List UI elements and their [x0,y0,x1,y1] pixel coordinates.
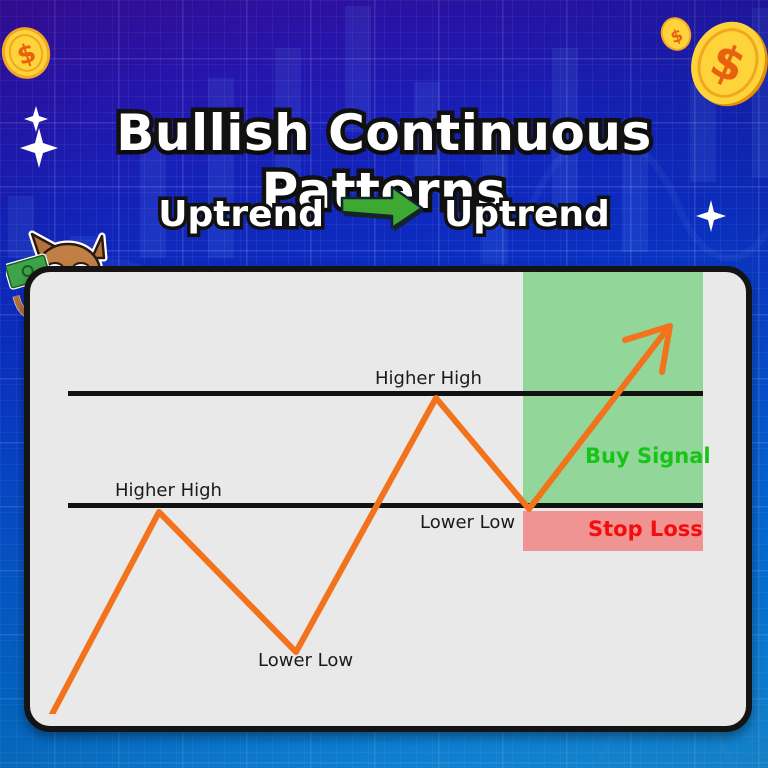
label-buy-signal: Buy Signal [585,444,711,468]
poster-canvas: $ $ $ Bullish Continuous Patterns Uptren… [0,0,768,768]
label-lower-low-right: Lower Low [420,512,515,533]
right-arrow-icon [340,186,428,242]
coin-top-left-icon: $ [0,25,52,81]
label-lower-low-bottom: Lower Low [258,650,353,671]
coin-top-right-large-icon: $ [688,20,768,110]
subtitle-uptrend-right: Uptrend [444,194,610,235]
label-higher-high-top: Higher High [375,368,482,389]
chart-area: Higher High Higher High Lower Low Lower … [30,272,746,726]
label-higher-high-mid: Higher High [115,480,222,501]
subtitle-uptrend-left: Uptrend [158,194,324,235]
chart-card: Higher High Higher High Lower Low Lower … [24,266,752,732]
label-stop-loss: Stop Loss [588,517,703,541]
